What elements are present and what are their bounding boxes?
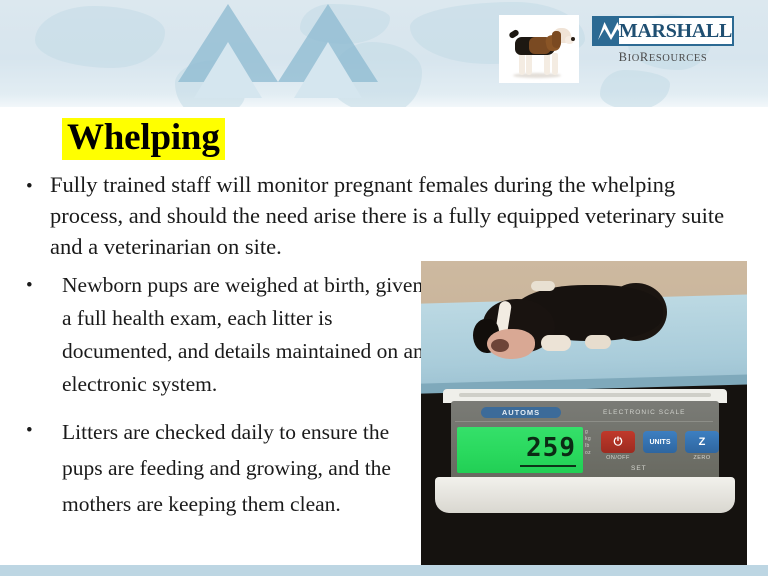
chevron-right-cutout-icon [294, 42, 362, 98]
scale-brand-name: AUTOMS [481, 407, 561, 418]
scale-panel-divider [455, 421, 713, 422]
subtitle-io: IO [628, 53, 640, 64]
newborn-puppy [473, 279, 673, 365]
marshall-subtitle: BIORESOURCES [592, 50, 734, 65]
scale-zero-label: ZERO [685, 455, 719, 461]
scale-set-label: SET [631, 465, 647, 472]
subtitle-r: R [640, 50, 649, 64]
electronic-scale-unit: AUTOMS ELECTRONIC SCALE 259 gkglboz ⏻ UN… [435, 389, 735, 515]
dog-leg [552, 53, 558, 75]
marshall-wordmark: MARSHALL [619, 16, 734, 46]
puppy-white-patch [531, 281, 555, 291]
bullet-item-3: • Litters are checked daily to ensure th… [26, 414, 426, 522]
double-chevron-icon [598, 22, 619, 40]
bullet-text-2: Newborn pups are weighed at birth, given… [62, 269, 426, 401]
bullet-marker-icon: • [26, 414, 62, 522]
page-title: Whelping [62, 118, 225, 160]
bullet-text-1: Fully trained staff will monitor pregnan… [50, 169, 726, 262]
dog-ear [552, 31, 561, 48]
logo-row: MARSHALL [592, 16, 734, 46]
header-beagle-photo [499, 15, 579, 83]
puppy-paw [585, 335, 611, 349]
lcd-underline [520, 465, 576, 467]
slide-header-band: MARSHALL BIORESOURCES [0, 0, 768, 107]
scale-zero-button[interactable]: Z [685, 431, 719, 453]
scale-seam [459, 393, 711, 397]
lcd-unit-markers: gkglboz [585, 429, 591, 457]
slide-body: Whelping • Fully trained staff will moni… [0, 107, 768, 565]
scale-onoff-button[interactable]: ⏻ [601, 431, 635, 453]
scale-base-housing [435, 477, 735, 513]
dog-nose [571, 37, 575, 41]
bullet-item-2: • Newborn pups are weighed at birth, giv… [26, 269, 426, 401]
subtitle-b: B [619, 50, 628, 64]
dog-leg [544, 53, 550, 75]
puppy-nose [491, 339, 509, 352]
map-blob-australia [600, 70, 670, 107]
presentation-slide: MARSHALL BIORESOURCES Whelping • Fully t… [0, 0, 768, 576]
puppy-on-scale-photo: AUTOMS ELECTRONIC SCALE 259 gkglboz ⏻ UN… [421, 261, 747, 576]
bullet-item-1: • Fully trained staff will monitor pregn… [26, 169, 726, 262]
subtitle-esources: ESOURCES [649, 53, 707, 64]
dog-leg [526, 53, 532, 75]
bullet-marker-icon: • [26, 269, 62, 401]
bullet-marker-icon: • [26, 169, 50, 262]
scale-weight-value: 259 [526, 433, 576, 463]
marshall-chevron-mark-icon [592, 16, 619, 46]
page-title-wrap: Whelping [62, 118, 225, 160]
puppy-paw [541, 335, 571, 351]
chevron-left-cutout-icon [194, 42, 262, 98]
bullet-text-3: Litters are checked daily to ensure the … [62, 414, 426, 522]
scale-onoff-label: ON/OFF [601, 455, 635, 461]
scale-lcd-display: 259 [457, 427, 583, 473]
dog-leg [519, 53, 525, 75]
scale-units-button[interactable]: UNITS [643, 431, 677, 453]
map-blob-north-america [35, 6, 165, 68]
marshall-bioresources-logo: MARSHALL BIORESOURCES [592, 16, 734, 65]
slide-footer-band [0, 565, 768, 576]
scale-type-label: ELECTRONIC SCALE [603, 409, 686, 416]
